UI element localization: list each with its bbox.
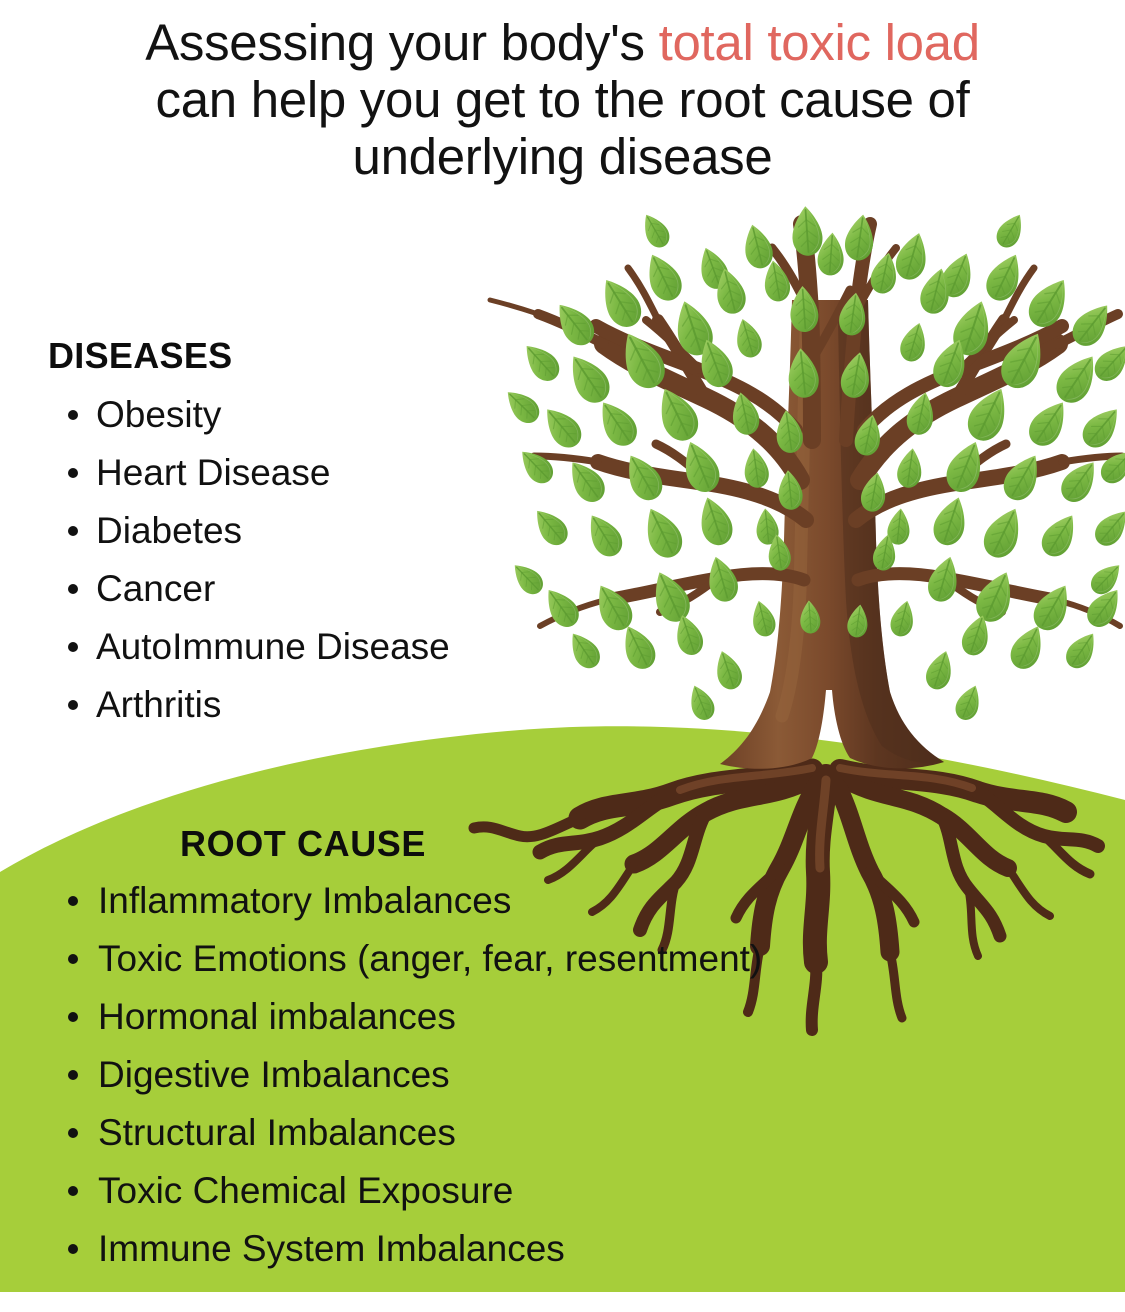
list-item: Structural Imbalances bbox=[46, 1104, 1066, 1162]
list-item: Diabetes bbox=[48, 502, 608, 560]
root-cause-item-label: Toxic Emotions (anger, fear, resentment) bbox=[98, 938, 762, 979]
bullet-icon bbox=[68, 896, 78, 906]
list-item: Obesity bbox=[48, 386, 608, 444]
list-item: Hormonal imbalances bbox=[46, 988, 1066, 1046]
list-item: Cancer bbox=[48, 560, 608, 618]
title-line3: underlying disease bbox=[353, 128, 773, 185]
bullet-icon bbox=[68, 1012, 78, 1022]
list-item: Toxic Chemical Exposure bbox=[46, 1162, 1066, 1220]
list-item: Toxic Emotions (anger, fear, resentment) bbox=[46, 930, 1066, 988]
bullet-icon bbox=[68, 700, 78, 710]
diseases-heading: DISEASES bbox=[48, 334, 608, 378]
bullet-icon bbox=[68, 468, 78, 478]
list-item: Digestive Imbalances bbox=[46, 1046, 1066, 1104]
root-cause-list: Inflammatory Imbalances Toxic Emotions (… bbox=[46, 872, 1066, 1278]
diseases-item-label: Diabetes bbox=[96, 510, 242, 551]
diseases-item-label: Cancer bbox=[96, 568, 215, 609]
bullet-icon bbox=[68, 1128, 78, 1138]
root-cause-section: ROOT CAUSE Inflammatory Imbalances Toxic… bbox=[46, 822, 1066, 1278]
diseases-item-label: Obesity bbox=[96, 394, 221, 435]
diseases-item-label: Arthritis bbox=[96, 684, 221, 725]
root-cause-item-label: Hormonal imbalances bbox=[98, 996, 456, 1037]
title-line1-prefix: Assessing your body's bbox=[145, 14, 658, 71]
list-item: Arthritis bbox=[48, 676, 608, 734]
bullet-icon bbox=[68, 584, 78, 594]
text-content: Assessing your body's total toxic load c… bbox=[0, 0, 1125, 1307]
root-cause-item-label: Inflammatory Imbalances bbox=[98, 880, 511, 921]
list-item: Heart Disease bbox=[48, 444, 608, 502]
title-highlight-total-toxic-load: total toxic load bbox=[659, 14, 980, 71]
diseases-list: Obesity Heart Disease Diabetes Cancer Au… bbox=[48, 386, 608, 734]
root-cause-item-label: Digestive Imbalances bbox=[98, 1054, 450, 1095]
list-item: Immune System Imbalances bbox=[46, 1220, 1066, 1278]
bullet-icon bbox=[68, 954, 78, 964]
diseases-section: DISEASES Obesity Heart Disease Diabetes … bbox=[48, 334, 608, 734]
root-cause-heading: ROOT CAUSE bbox=[180, 822, 1066, 866]
list-item: AutoImmune Disease bbox=[48, 618, 608, 676]
bullet-icon bbox=[68, 1070, 78, 1080]
root-cause-item-label: Immune System Imbalances bbox=[98, 1228, 565, 1269]
list-item: Inflammatory Imbalances bbox=[46, 872, 1066, 930]
root-cause-item-label: Toxic Chemical Exposure bbox=[98, 1170, 513, 1211]
diseases-item-label: AutoImmune Disease bbox=[96, 626, 450, 667]
bottom-white-strip bbox=[0, 1292, 1125, 1307]
diseases-item-label: Heart Disease bbox=[96, 452, 330, 493]
bullet-icon bbox=[68, 1244, 78, 1254]
page-title: Assessing your body's total toxic load c… bbox=[0, 14, 1125, 185]
bullet-icon bbox=[68, 526, 78, 536]
root-cause-item-label: Structural Imbalances bbox=[98, 1112, 456, 1153]
title-line2: can help you get to the root cause of bbox=[156, 71, 970, 128]
bullet-icon bbox=[68, 1186, 78, 1196]
infographic-canvas: Assessing your body's total toxic load c… bbox=[0, 0, 1125, 1307]
bullet-icon bbox=[68, 642, 78, 652]
bullet-icon bbox=[68, 410, 78, 420]
